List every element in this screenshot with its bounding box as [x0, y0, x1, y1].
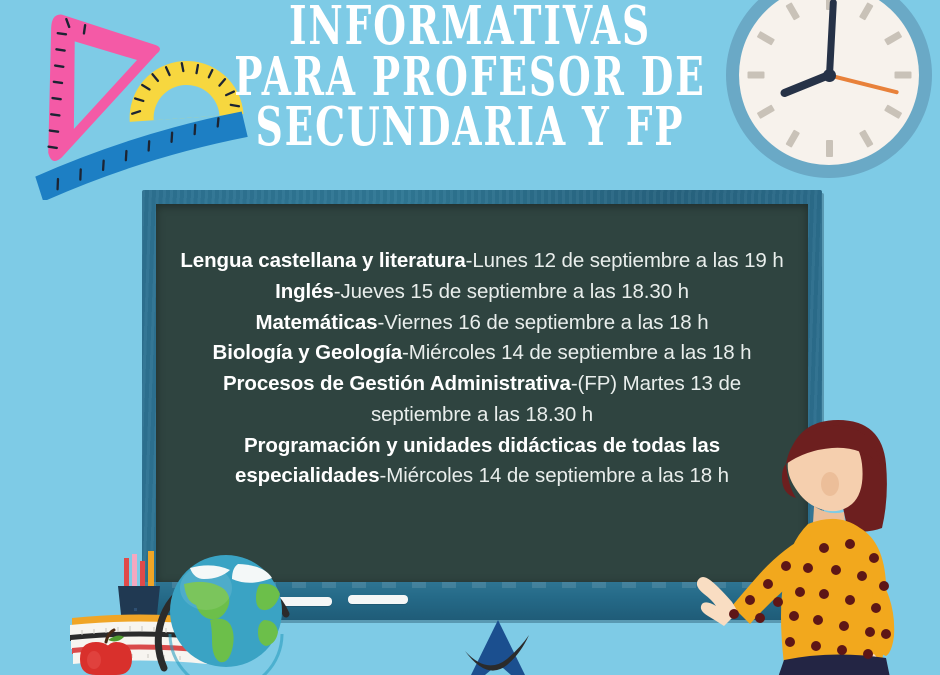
- clock-tick: [884, 104, 902, 119]
- session-subject: Inglés: [275, 280, 334, 303]
- clock-tick: [858, 130, 873, 148]
- session-line: Inglés-Jueves 15 de septiembre a las 18.…: [172, 277, 792, 308]
- clock-tick: [858, 2, 873, 20]
- session-detail: -Miércoles 14 de septiembre a las 18 h: [380, 464, 729, 487]
- chalk-stick: [348, 595, 408, 604]
- session-detail: -Lunes 12 de septiembre a las 19 h: [466, 249, 784, 272]
- logo-icon: [455, 618, 541, 675]
- drawing-supplies-illustration: [0, 0, 250, 200]
- session-detail: -Viernes 16 de septiembre a las 18 h: [377, 311, 708, 334]
- session-detail: -Jueves 15 de septiembre a las 18.30 h: [334, 280, 689, 303]
- clock-second-hand: [829, 73, 900, 94]
- session-subject: Biología y Geología: [213, 341, 402, 364]
- session-line: Lengua castellana y literatura-Lunes 12 …: [172, 246, 792, 277]
- teacher-illustration: [690, 398, 940, 675]
- organization-logo: [455, 618, 541, 675]
- clock-tick: [756, 104, 774, 119]
- clock-center-pin: [823, 69, 836, 82]
- clock-minute-hand: [826, 0, 837, 75]
- session-subject: Lengua castellana y literatura: [180, 249, 465, 272]
- clock-tick: [884, 31, 902, 46]
- clock-tick: [785, 130, 800, 148]
- session-subject: Procesos de Gestión Administrativa: [223, 372, 571, 395]
- session-subject: Matemáticas: [255, 311, 377, 334]
- session-line: Matemáticas-Viernes 16 de septiembre a l…: [172, 308, 792, 339]
- desk-objects-icon: [60, 548, 310, 675]
- clock-tick: [747, 72, 764, 79]
- rulers-icon: [0, 0, 250, 200]
- clock-tick: [756, 31, 774, 46]
- clock-tick: [826, 140, 833, 157]
- teacher-icon: [690, 398, 940, 675]
- clock-tick: [785, 2, 800, 20]
- wall-clock-icon: [726, 0, 932, 178]
- desk-objects-illustration: [60, 548, 310, 675]
- clock-tick: [894, 72, 911, 79]
- session-detail: -Miércoles 14 de septiembre a las 18 h: [402, 341, 751, 364]
- poster-canvas: INFORMATIVAS PARA PROFESOR DE SECUNDARIA…: [0, 0, 940, 675]
- session-line: Biología y Geología-Miércoles 14 de sept…: [172, 338, 792, 369]
